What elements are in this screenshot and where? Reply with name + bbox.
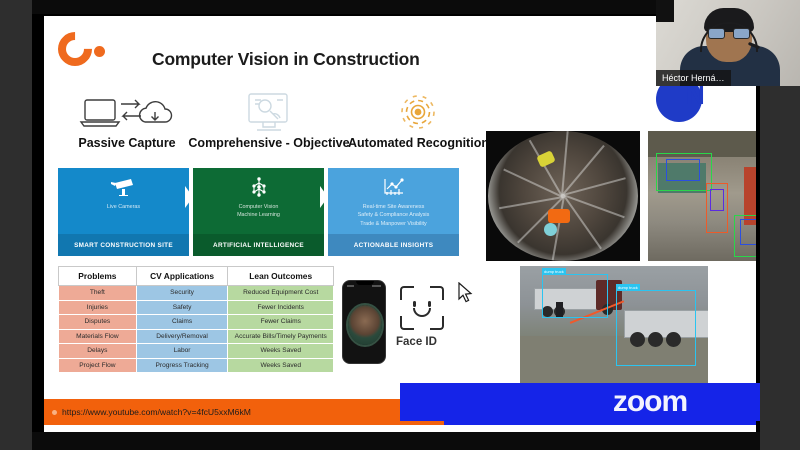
fisheye-lens-view: [488, 131, 638, 261]
table-cell: Accurate Bills/Timely Payments: [228, 329, 334, 344]
feature-label: Automated Recognition: [348, 136, 488, 150]
table-cell: Fewer Claims: [228, 315, 334, 330]
detection-box: [740, 219, 756, 245]
eyeglasses-icon: [708, 28, 750, 39]
window-top-margin: [32, 0, 760, 14]
table-row: Theft Security Reduced Equipment Cost: [59, 286, 334, 301]
problems-applications-outcomes-table: Problems CV Applications Lean Outcomes T…: [58, 266, 334, 373]
table-cell: Materials Flow: [59, 329, 137, 344]
detection-box-caption: dump truck: [616, 284, 640, 291]
gear-sun-icon: [348, 88, 488, 136]
window-bottom-margin: [32, 432, 760, 450]
fisheye-tunnel-camera-photo: [486, 131, 640, 261]
process-block-body: Computer Vision Machine Learning: [237, 203, 280, 220]
worker-figure: [548, 209, 570, 223]
table-row: Injuries Safety Fewer Incidents: [59, 300, 334, 315]
table-cell: Progress Tracking: [136, 358, 228, 373]
table-header-row: Problems CV Applications Lean Outcomes: [59, 267, 334, 286]
process-block-smart-construction-site: Live Cameras SMART CONSTRUCTION SITE: [58, 168, 189, 256]
table-row: Disputes Claims Fewer Claims: [59, 315, 334, 330]
truck-detection-box: dump truck: [542, 274, 608, 318]
truck-detection-bounding-boxes-photo: dump truck dump truck: [520, 266, 744, 394]
table-header-cell: Problems: [59, 267, 137, 286]
detection-box-caption: dump truck: [542, 268, 566, 275]
logo-arc-icon: [51, 25, 99, 73]
feature-comprehensive-objective: Comprehensive - Objective: [184, 88, 354, 150]
table-cell: Weeks Saved: [228, 358, 334, 373]
chart-insights-icon: [381, 174, 407, 200]
feature-automated-recognition: Automated Recognition: [348, 88, 488, 150]
process-block-footer: SMART CONSTRUCTION SITE: [58, 234, 189, 256]
process-block-body: Real-time Site Awareness Safety & Compli…: [358, 203, 430, 228]
table-cell: Delays: [59, 344, 137, 359]
worker-figure: [536, 150, 556, 168]
zoom-wordmark: zoom: [613, 385, 687, 419]
table-header-cell: Lean Outcomes: [228, 267, 334, 286]
participant-video-tile[interactable]: Héctor Herná…: [656, 0, 800, 86]
feature-label: Comprehensive - Objective: [184, 136, 354, 150]
logo-dot-icon: [94, 46, 105, 57]
neural-network-icon: [247, 174, 271, 200]
table-cell: Weeks Saved: [228, 344, 334, 359]
zoom-branding-bar: zoom: [400, 383, 760, 421]
table-row: Materials Flow Delivery/Removal Accurate…: [59, 329, 334, 344]
truck-yard-scene: dump truck dump truck: [520, 266, 744, 394]
smartphone-mockup: [342, 280, 386, 364]
video-left-dark-edge: [656, 0, 674, 22]
flow-arrow-1-icon: [185, 186, 193, 208]
table-cell: Labor: [136, 344, 228, 359]
phone-face-photo: [348, 305, 382, 345]
table-cell: Injuries: [59, 300, 137, 315]
table-cell: Fewer Incidents: [228, 300, 334, 315]
face-id-label: Face ID: [396, 336, 437, 348]
table-cell: Reduced Equipment Cost: [228, 286, 334, 301]
shared-slide: Computer Vision in Construction: [44, 16, 756, 432]
monitor-analysis-icon: [184, 88, 354, 136]
truck-detection-box: dump truck: [616, 290, 696, 366]
process-block-body: Live Cameras: [107, 203, 140, 211]
source-url: https://www.youtube.com/watch?v=4fcU5xxM…: [62, 407, 251, 417]
face-id-group: Face ID: [342, 280, 470, 376]
table-cell: Disputes: [59, 315, 137, 330]
table-cell: Security: [136, 286, 228, 301]
feature-label: Passive Capture: [62, 136, 192, 150]
process-block-artificial-intelligence: Computer Vision Machine Learning ARTIFIC…: [193, 168, 324, 256]
table-row: Project Flow Progress Tracking Weeks Sav…: [59, 358, 334, 373]
page-title: Computer Vision in Construction: [152, 49, 482, 70]
company-logo-orange-c: [58, 30, 110, 70]
bullet-icon: [52, 410, 57, 415]
table-cell: Delivery/Removal: [136, 329, 228, 344]
table-header-cell: CV Applications: [136, 267, 228, 286]
laptop-cloud-icon: [62, 88, 192, 136]
zoom-screen-share-window: Computer Vision in Construction: [0, 0, 800, 450]
construction-site-scene: [648, 131, 756, 261]
mouse-cursor: [458, 282, 474, 309]
cctv-camera-icon: [111, 174, 137, 200]
process-block-footer: ARTIFICIAL INTELLIGENCE: [193, 234, 324, 256]
face-scan-icon: [400, 286, 444, 330]
detection-box: [710, 189, 724, 211]
table-row: Delays Labor Weeks Saved: [59, 344, 334, 359]
process-blocks: Live Cameras SMART CONSTRUCTION SITE: [58, 168, 462, 256]
participant-name-label: Héctor Herná…: [656, 70, 731, 86]
process-block-footer: ACTIONABLE INSIGHTS: [328, 234, 459, 256]
table-cell: Project Flow: [59, 358, 137, 373]
feature-row: Passive Capture Comprehensive - Obje: [56, 88, 486, 164]
table-cell: Safety: [136, 300, 228, 315]
detection-box: [666, 159, 700, 181]
window-left-margin: [0, 0, 32, 450]
table-cell: Theft: [59, 286, 137, 301]
feature-passive-capture: Passive Capture: [62, 88, 192, 150]
process-block-actionable-insights: Real-time Site Awareness Safety & Compli…: [328, 168, 459, 256]
table-cell: Claims: [136, 315, 228, 330]
flow-arrow-2-icon: [320, 186, 328, 208]
helmet-figure: [544, 223, 557, 236]
phone-status-bar: [347, 285, 381, 289]
worker-detection-bounding-boxes-photo: [648, 131, 756, 261]
